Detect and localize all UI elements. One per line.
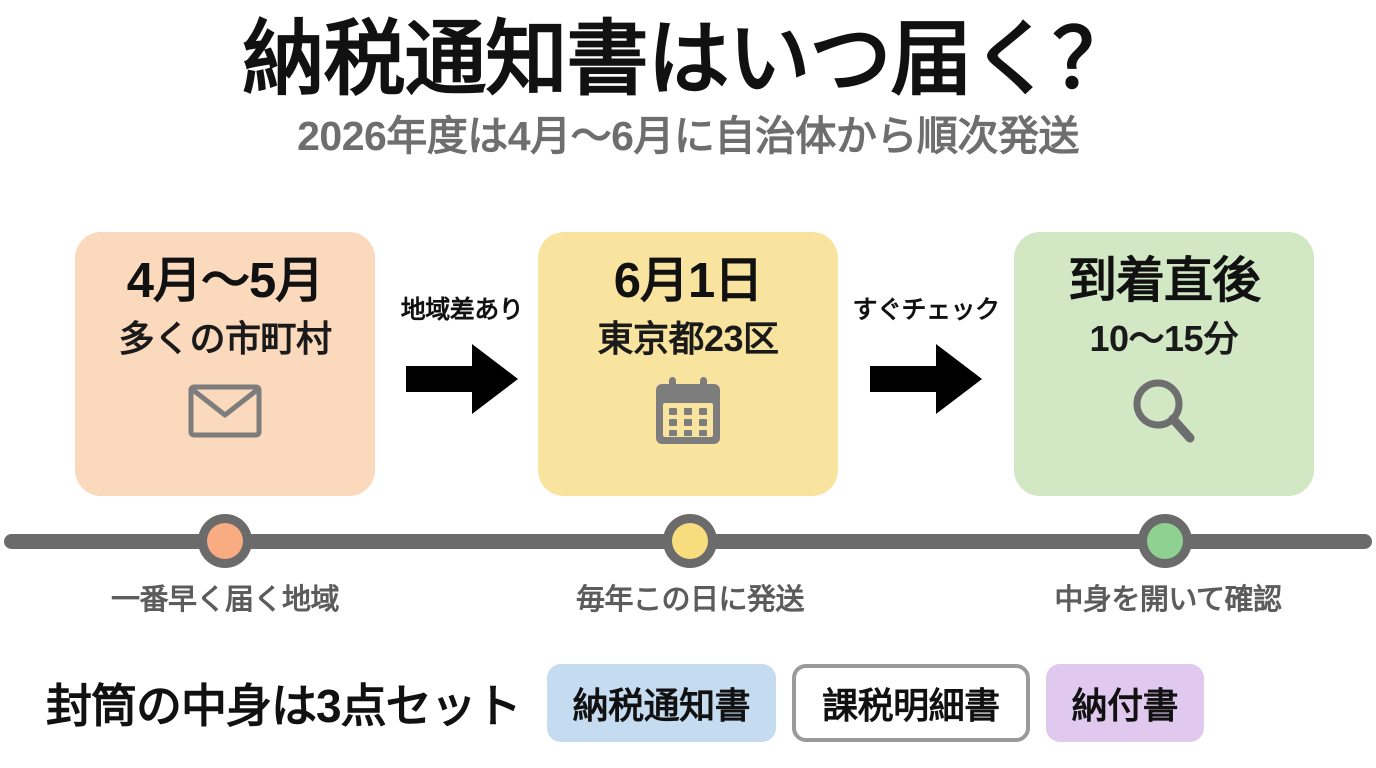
- stage-card-3: 到着直後 10〜15分: [1014, 232, 1314, 496]
- content-chip-payment-slip: 納付書: [1046, 664, 1205, 742]
- timeline-node-1-label: 一番早く届く地域: [0, 576, 455, 618]
- content-chip-tax-notice-label: 納税通知書: [573, 677, 751, 729]
- stage-card-2-subtitle: 東京都23区: [597, 318, 778, 359]
- content-chip-tax-statement: 課税明細書: [792, 664, 1030, 742]
- stage-card-3-subtitle: 10〜15分: [1089, 318, 1238, 359]
- stage-card-1-subtitle: 多くの市町村: [118, 318, 331, 359]
- stage-card-1: 4月〜5月 多くの市町村: [75, 232, 375, 496]
- stage-card-3-title: 到着直後: [1068, 254, 1260, 310]
- timeline-node-1-dot: [207, 523, 243, 559]
- timeline-node-2-label: 毎年この日に発送: [460, 576, 920, 618]
- timeline-node-2-dot: [672, 523, 708, 559]
- arrow-connector-1-label: 地域差あり: [401, 290, 524, 326]
- timeline-cards: 4月〜5月 多くの市町村 6月1日 東京都23区: [0, 232, 1376, 496]
- content-chip-payment-slip-label: 納付書: [1072, 677, 1179, 729]
- timeline-node-3: [1138, 514, 1192, 568]
- arrow-connector-1: 地域差あり: [378, 232, 546, 432]
- arrow-connector-2: すぐチェック: [842, 232, 1010, 432]
- timeline-node-1: [198, 514, 252, 568]
- header: 納税通知書はいつ届く？ 2026年度は4月〜6月に自治体から順次発送: [0, 14, 1376, 161]
- arrow-connector-2-label: すぐチェック: [852, 290, 999, 326]
- content-chip-tax-statement-label: 課税明細書: [822, 677, 1000, 729]
- envelope-contents-chips: 納税通知書 課税明細書 納付書: [547, 664, 1205, 742]
- envelope-icon: [187, 373, 263, 449]
- page-subtitle: 2026年度は4月〜6月に自治体から順次発送: [0, 112, 1376, 161]
- stage-card-1-title: 4月〜5月: [127, 254, 324, 310]
- timeline: 一番早く届く地域 毎年この日に発送 中身を開いて確認: [0, 496, 1376, 624]
- right-arrow-icon: [406, 342, 518, 416]
- calendar-icon: [650, 373, 726, 449]
- stage-card-2-title: 6月1日: [614, 254, 763, 310]
- content-chip-tax-notice: 納税通知書: [547, 664, 777, 742]
- stage-card-2: 6月1日 東京都23区: [538, 232, 838, 496]
- envelope-contents-row: 封筒の中身は3点セット 納税通知書 課税明細書 納付書: [0, 650, 1376, 756]
- timeline-node-3-dot: [1147, 523, 1183, 559]
- envelope-contents-heading: 封筒の中身は3点セット: [46, 670, 521, 736]
- magnifier-icon: [1126, 373, 1202, 449]
- timeline-node-3-label: 中身を開いて確認: [938, 576, 1376, 618]
- timeline-node-2: [663, 514, 717, 568]
- infographic-page: 納税通知書はいつ届く？ 2026年度は4月〜6月に自治体から順次発送 4月〜5月…: [0, 0, 1376, 768]
- page-title: 納税通知書はいつ届く？: [0, 14, 1376, 106]
- right-arrow-icon: [870, 342, 982, 416]
